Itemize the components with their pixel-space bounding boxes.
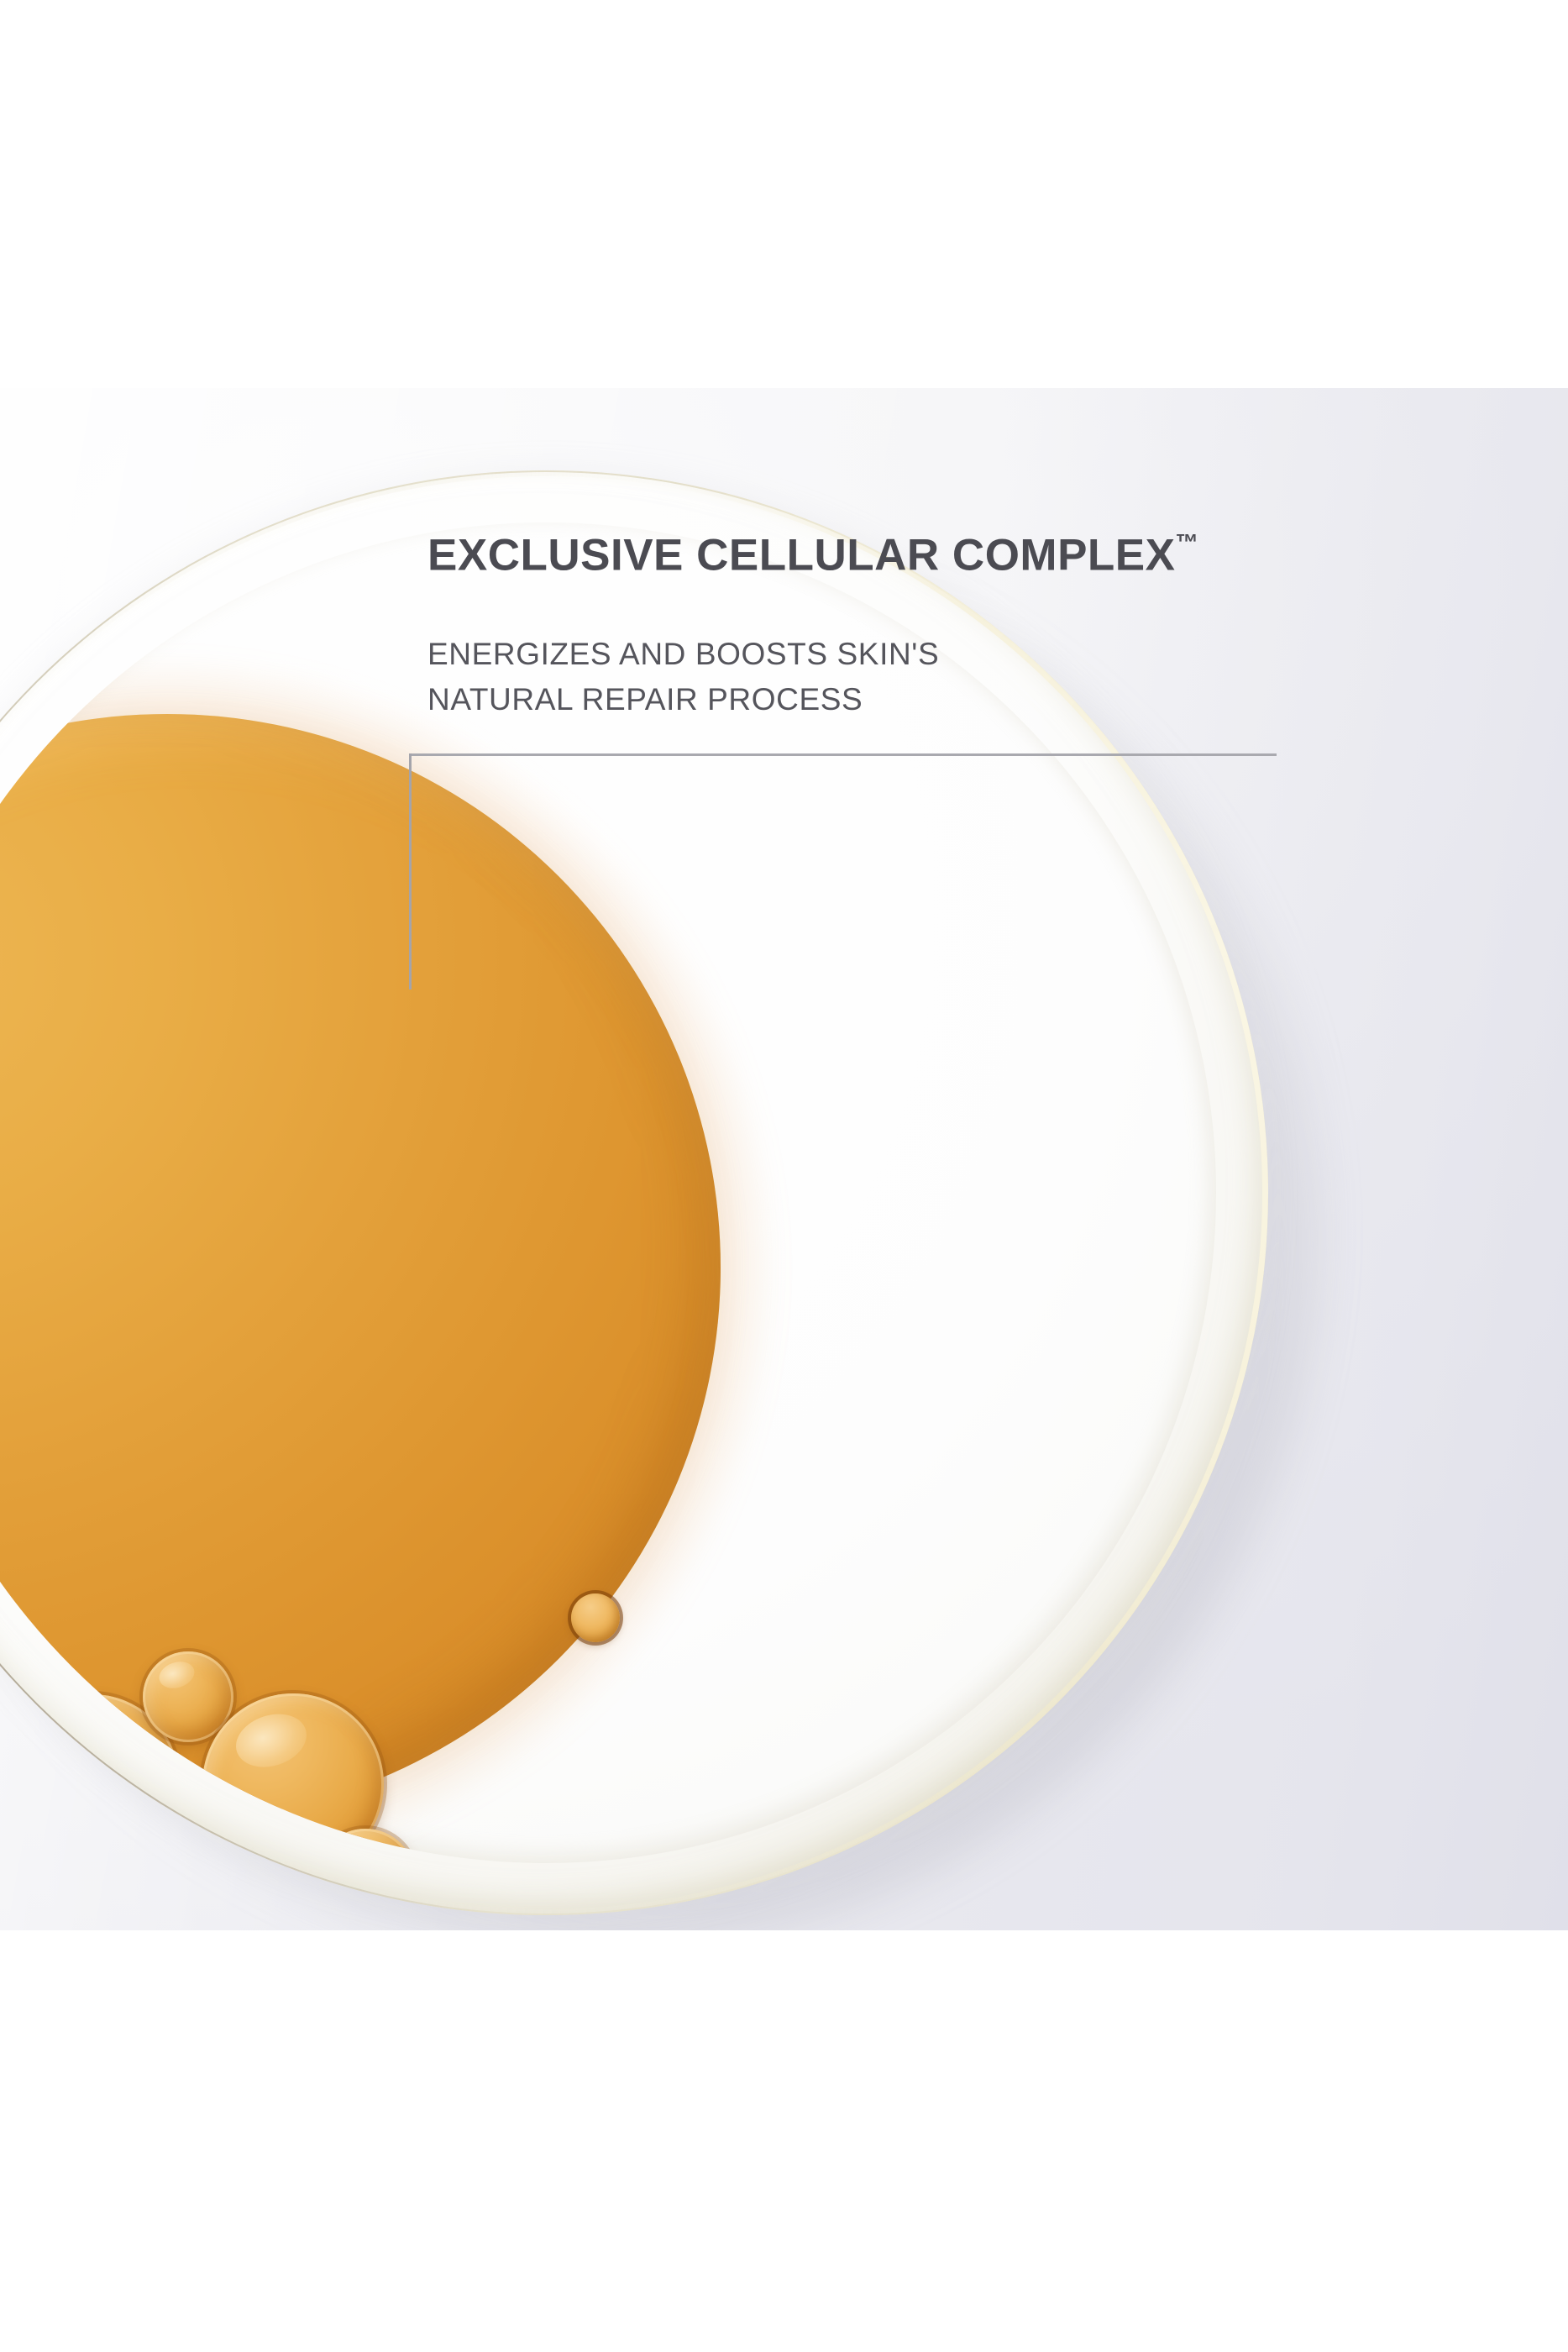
- callout-leader-horizontal: [409, 753, 1277, 756]
- glass-petri-dish: [0, 388, 1568, 1930]
- top-white-band: [0, 0, 1568, 388]
- callout-leader-vertical: [409, 753, 412, 990]
- bottom-white-band: [0, 1930, 1568, 2352]
- amber-oil-pool: [0, 714, 721, 1821]
- lone-oil-bubble: [571, 1593, 620, 1642]
- photo-backdrop: [0, 388, 1568, 1930]
- bubble-top-small: [143, 1651, 233, 1742]
- product-ingredient-callout-image: EXCLUSIVE CELLULAR COMPLEX™ ENERGIZES AN…: [0, 0, 1568, 2352]
